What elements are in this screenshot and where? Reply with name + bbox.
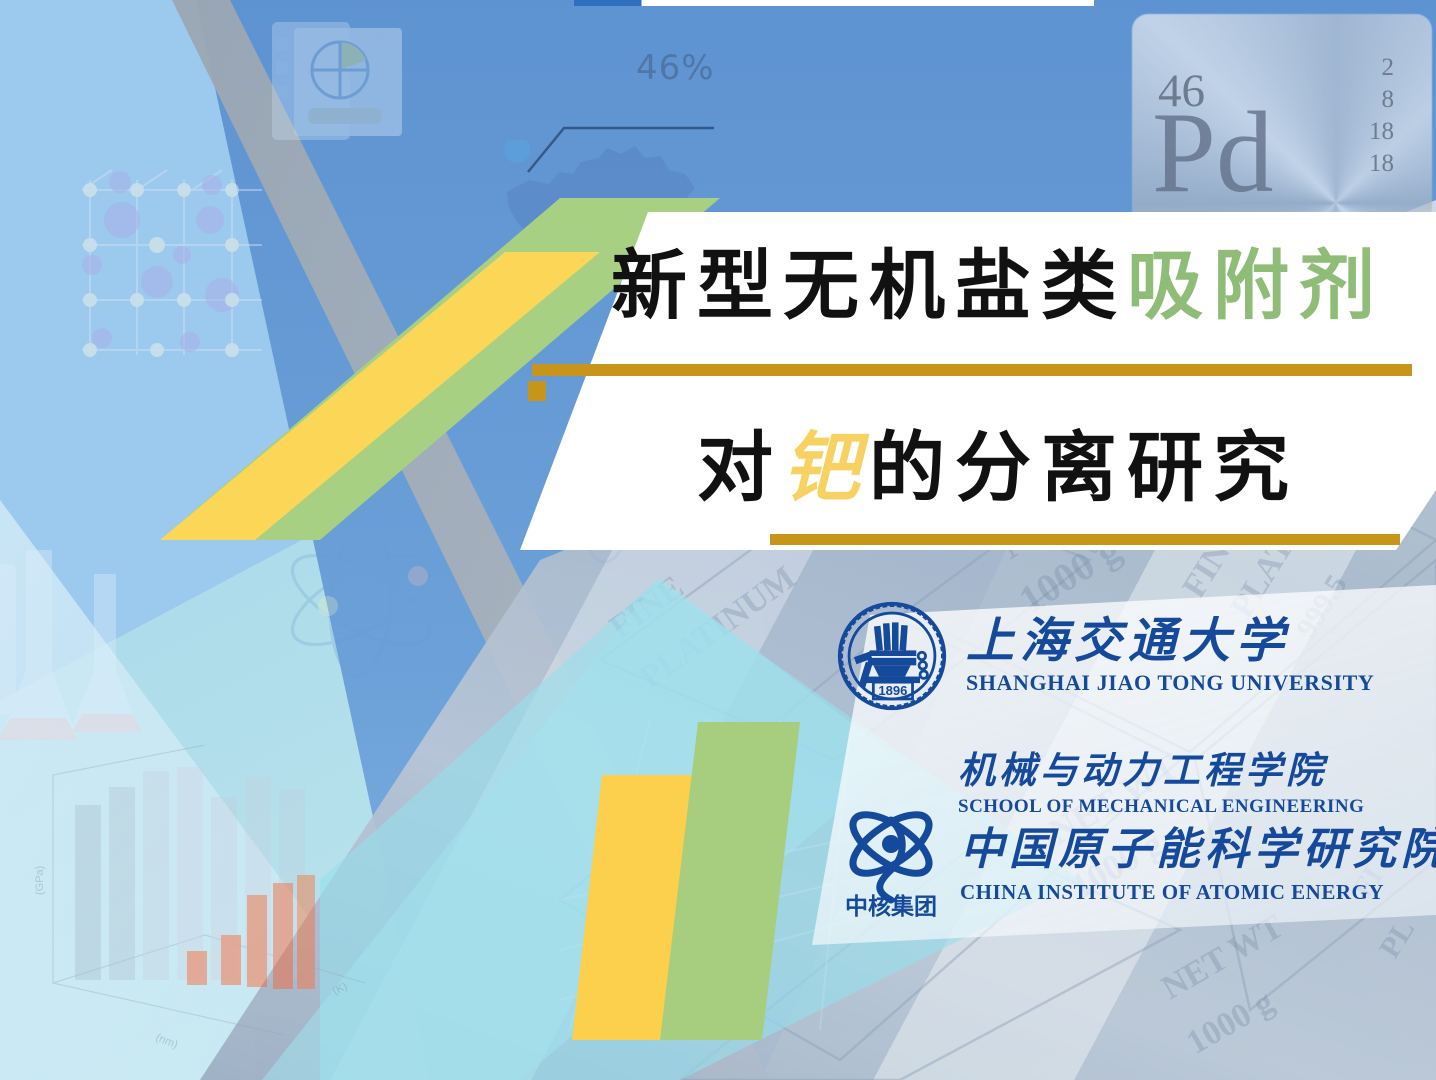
- title-block: 新型无机盐类吸附剂 对钯的分离研究: [520, 212, 1436, 550]
- top-accent-strip: [574, 0, 1094, 6]
- university-name-cn: 上海交通大学: [966, 616, 1374, 666]
- institute-logo-block: 中核集团 中国原子能科学研究院 CHINA INSTITUTE OF ATOMI…: [836, 800, 1436, 918]
- shell-1: 2: [1369, 52, 1394, 84]
- atom-icon: [268, 538, 454, 688]
- institute-name-en: CHINA INSTITUTE OF ATOMIC ENERGY: [960, 880, 1436, 905]
- svg-text:(GPa): (GPa): [35, 866, 46, 895]
- cnnc-group-mark: 中核集团: [845, 893, 937, 918]
- title-line-1-plain: 新型无机盐类: [611, 241, 1127, 330]
- slide-canvas: NET WT 1000 g FINE PLATINUM 999.5 NET WT…: [0, 0, 1436, 1080]
- university-logo-block: 1896 上海交通大学 SHANGHAI JIAO TONG UNIVERSIT…: [836, 600, 1374, 712]
- palladium-electron-shells: 2 8 18 18: [1369, 52, 1394, 180]
- sjtu-seal-year: 1896: [878, 683, 907, 698]
- title-line-1-accent: 吸附剂: [1127, 241, 1385, 330]
- svg-text:(K): (K): [331, 980, 350, 997]
- shell-2: 8: [1369, 84, 1394, 116]
- report-chart-icon: [268, 18, 408, 148]
- title-rule-top: [532, 364, 1412, 376]
- svg-text:1000 g: 1000 g: [1181, 983, 1280, 1062]
- cnnc-atom-icon: 中核集团: [836, 800, 946, 918]
- svg-text:PL: PL: [1373, 914, 1421, 964]
- title-line-2: 对钯的分离研究: [568, 430, 1428, 506]
- percent-callout-label: 46%: [636, 48, 715, 88]
- title-line-2-after: 的分离研究: [869, 423, 1299, 512]
- school-name-cn: 机械与动力工程学院: [958, 740, 1327, 794]
- faded-3d-bar-chart: (GPa) (nm) (K): [35, 745, 435, 1075]
- shell-4: 18: [1369, 148, 1394, 180]
- gold-square-accent: [528, 381, 546, 401]
- title-line-1: 新型无机盐类吸附剂: [568, 248, 1428, 324]
- institute-name-cn: 中国原子能科学研究院: [960, 813, 1436, 877]
- title-rule-bottom: [770, 534, 1400, 545]
- shell-3: 18: [1369, 116, 1394, 148]
- title-line-2-highlight: 钯: [783, 423, 869, 512]
- palladium-symbol: Pd: [1152, 95, 1273, 210]
- university-name-en: SHANGHAI JIAO TONG UNIVERSITY: [966, 670, 1374, 696]
- crystal-lattice-icon: [62, 160, 282, 360]
- sjtu-seal-icon: 1896: [836, 600, 948, 712]
- svg-text:(nm): (nm): [154, 1032, 179, 1052]
- title-line-2-before: 对: [697, 423, 783, 512]
